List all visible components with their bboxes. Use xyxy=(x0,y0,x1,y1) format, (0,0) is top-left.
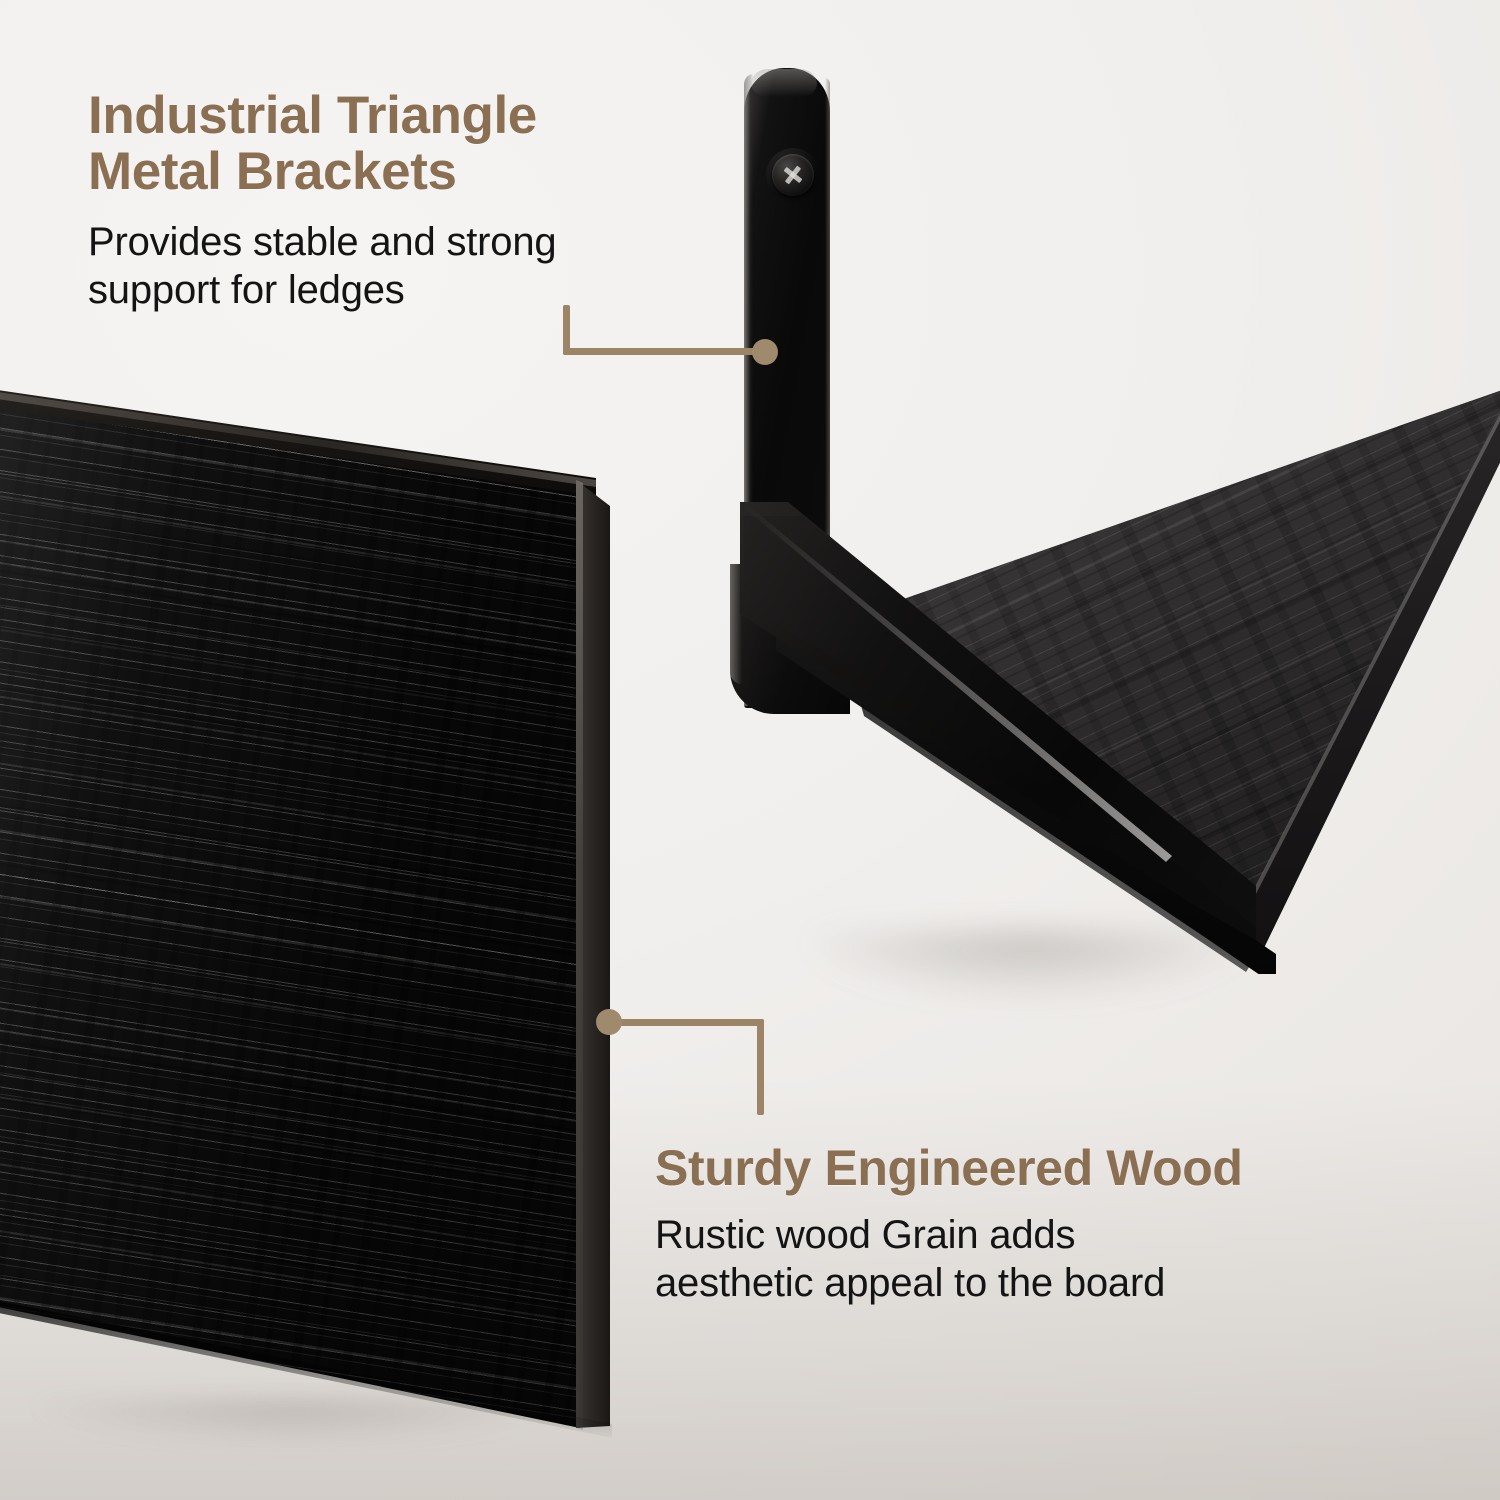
wood-body: Rustic wood Grain adds aesthetic appeal … xyxy=(655,1211,1475,1307)
brackets-body-line1: Provides stable and strong xyxy=(88,220,556,264)
feature-text-wood: Sturdy Engineered Wood Rustic wood Grain… xyxy=(655,1142,1475,1307)
feature-text-brackets: Industrial Triangle Metal Brackets Provi… xyxy=(88,88,748,314)
wood-body-line2: aesthetic appeal to the board xyxy=(655,1261,1165,1305)
brackets-body-line2: support for ledges xyxy=(88,268,405,312)
infographic-canvas: Industrial Triangle Metal Brackets Provi… xyxy=(0,0,1500,1500)
wood-heading-line1: Sturdy Engineered Wood xyxy=(655,1140,1243,1196)
brackets-heading-line1: Industrial Triangle xyxy=(88,86,537,145)
wood-heading: Sturdy Engineered Wood xyxy=(655,1142,1475,1195)
brackets-body: Provides stable and strong support for l… xyxy=(88,218,748,314)
phillips-screw-icon xyxy=(772,154,814,196)
wood-board-left xyxy=(0,388,634,1438)
bracket-top-highlight xyxy=(751,69,817,97)
metal-bracket-triangle-gusset xyxy=(716,498,1276,968)
wood-board-left-face xyxy=(0,388,580,1438)
wood-board-left-sheen xyxy=(0,388,580,1438)
wood-body-line1: Rustic wood Grain adds xyxy=(655,1213,1075,1257)
brackets-heading: Industrial Triangle Metal Brackets xyxy=(88,88,748,200)
brackets-heading-line2: Metal Brackets xyxy=(88,142,457,201)
